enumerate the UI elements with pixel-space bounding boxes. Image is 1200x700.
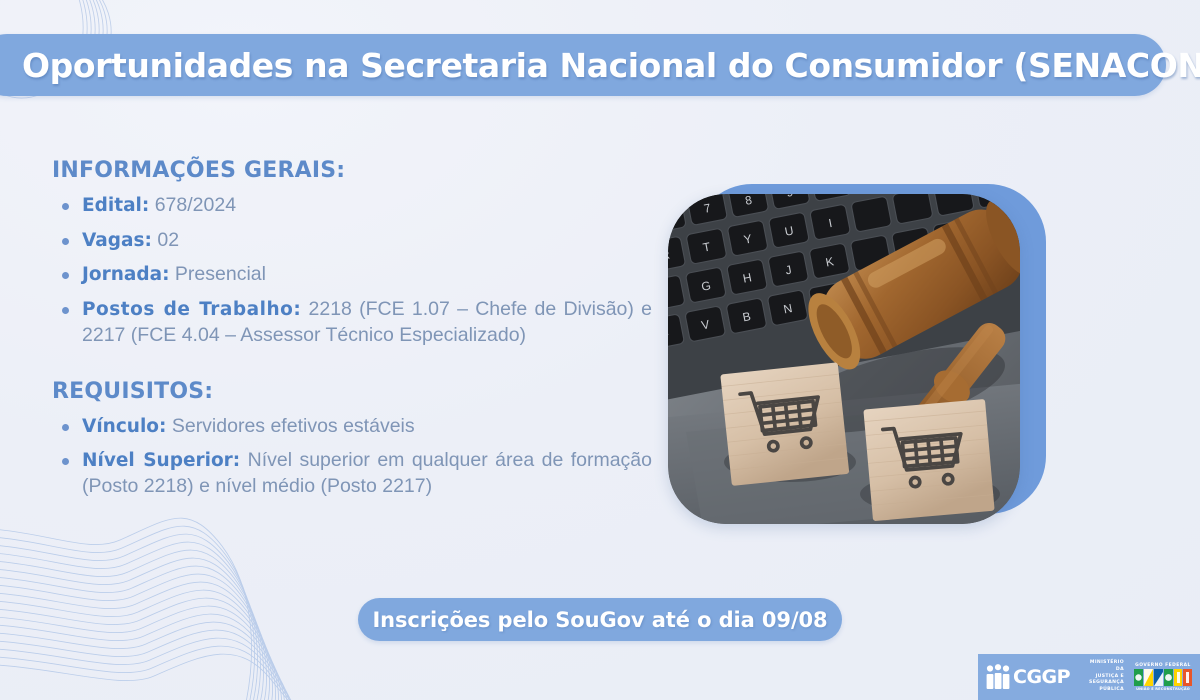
list-item-value: Presencial [170,263,266,285]
footer-logo-bar: CGGP MINISTÉRIO DA JUSTIÇA E SEGURANÇA P… [978,654,1200,700]
list-item-value: 02 [152,229,179,251]
wave-decoration-bottom-left [0,510,390,700]
section-heading-informacoes-gerais: INFORMAÇÕES GERAIS: [52,158,652,183]
list-item-label: Vínculo: [82,416,166,437]
list-item-value: 678/2024 [149,194,236,216]
list-item: Nível Superior: Nível superior em qualqu… [52,448,652,499]
cta-inscricoes-banner[interactable]: Inscrições pelo SouGov até o dia 09/08 [358,598,842,641]
brasil-wordmark-icon [1134,669,1192,686]
cta-label: Inscrições pelo SouGov até o dia 09/08 [372,608,827,632]
section-heading-requisitos: REQUISITOS: [52,379,652,404]
people-group-icon [986,664,1010,690]
list-item-label: Nível Superior: [82,450,240,471]
slide-canvas: Oportunidades na Secretaria Nacional do … [0,0,1200,700]
list-item: Vagas: 02 [52,228,652,254]
photo-container: 567 890 ERT YUI DFG HJK XCV BNM [668,194,1020,524]
page-title: Oportunidades na Secretaria Nacional do … [0,46,1200,85]
governo-federal-label: GOVERNO FEDERAL [1135,663,1191,668]
ministry-line-3: SEGURANÇA PÚBLICA [1080,680,1124,694]
gavel-laptop-illustration: 567 890 ERT YUI DFG HJK XCV BNM [668,194,1020,524]
list-item-label: Vagas: [82,230,152,251]
ministry-line-1: MINISTÉRIO DA [1080,660,1124,674]
list-informacoes-gerais: Edital: 678/2024 Vagas: 02 Jornada: Pres… [52,193,652,349]
gavel-laptop-photo: 567 890 ERT YUI DFG HJK XCV BNM [668,194,1020,524]
list-requisitos: Vínculo: Servidores efetivos estáveis Ní… [52,414,652,500]
cggp-logo: CGGP [986,664,1070,690]
list-item-label: Postos de Trabalho: [82,299,301,320]
list-item: Jornada: Presencial [52,262,652,288]
list-item: Postos de Trabalho: 2218 (FCE 1.07 – Che… [52,297,652,348]
svg-text:6: 6 [668,209,671,224]
governo-federal-logo: GOVERNO FEDERAL UNIÃO E RECONST [1134,663,1192,691]
ministry-logo-text: MINISTÉRIO DA JUSTIÇA E SEGURANÇA PÚBLIC… [1080,660,1124,694]
list-item-label: Jornada: [82,264,170,285]
title-banner: Oportunidades na Secretaria Nacional do … [0,34,1166,96]
content-column: INFORMAÇÕES GERAIS: Edital: 678/2024 Vag… [52,158,652,509]
uniao-reconstrucao-label: UNIÃO E RECONSTRUÇÃO [1136,687,1190,691]
list-item: Vínculo: Servidores efetivos estáveis [52,414,652,440]
cggp-label: CGGP [1013,666,1070,688]
list-item-value: Servidores efetivos estáveis [166,415,414,437]
list-item: Edital: 678/2024 [52,193,652,219]
list-item-label: Edital: [82,195,149,216]
